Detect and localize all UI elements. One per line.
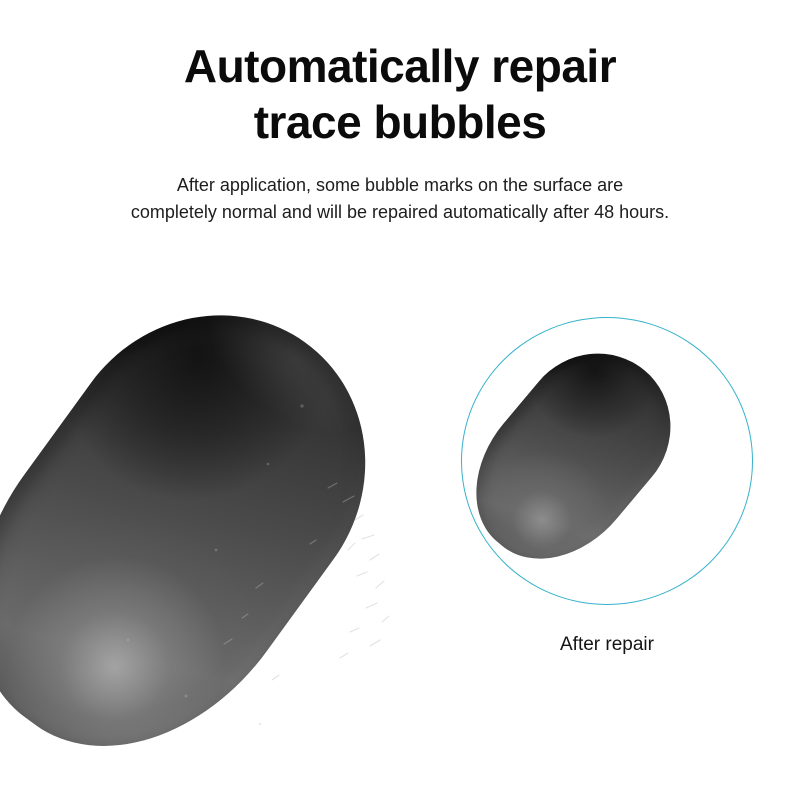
product-image-before [10, 288, 440, 793]
headline-line-2: trace bubbles [0, 94, 800, 150]
after-repair-label: After repair [461, 632, 753, 658]
mouse-body-large [0, 255, 427, 800]
subtitle-line-1: After application, some bubble marks on … [60, 172, 740, 199]
subtitle-line-2: completely normal and will be repaired a… [60, 199, 740, 226]
product-feature-page: Automatically repair trace bubbles After… [0, 0, 800, 800]
page-title: Automatically repair trace bubbles [0, 38, 800, 150]
page-subtitle: After application, some bubble marks on … [60, 172, 740, 226]
headline-line-1: Automatically repair [0, 38, 800, 94]
after-repair-callout [461, 317, 753, 605]
